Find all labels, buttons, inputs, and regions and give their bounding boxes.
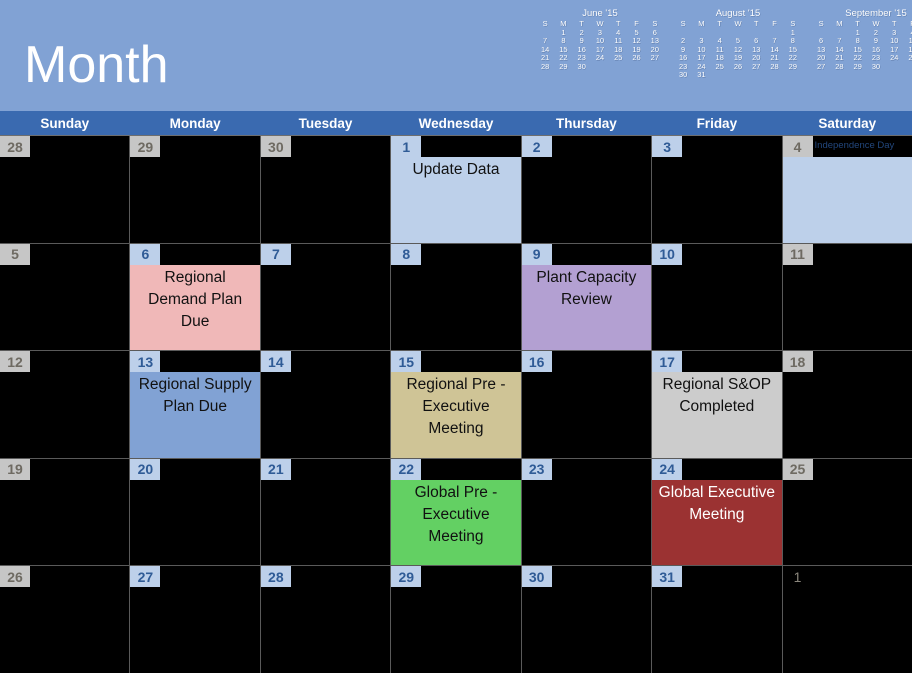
calendar-day-cell[interactable]: 31 xyxy=(652,566,782,673)
calendar-day-cell[interactable]: 22Global Pre - Executive Meeting xyxy=(391,459,521,566)
calendar-day-cell[interactable]: 13Regional Supply Plan Due xyxy=(130,351,260,458)
mini-day-empty xyxy=(765,71,783,80)
calendar-event[interactable]: Global Pre - Executive Meeting xyxy=(391,480,520,566)
day-number-badge: 26 xyxy=(0,566,30,587)
day-number-badge: 28 xyxy=(261,566,291,587)
weekday-header-wednesday: Wednesday xyxy=(391,111,521,135)
calendar-day-cell[interactable]: 5 xyxy=(0,244,130,351)
calendar-day-cell[interactable]: 24Global Executive Meeting xyxy=(652,459,782,566)
mini-calendar: June '15SMTWTFS1234567891011121314151617… xyxy=(536,8,664,80)
weekday-header-row: SundayMondayTuesdayWednesdayThursdayFrid… xyxy=(0,111,912,135)
day-number-badge: 2 xyxy=(522,136,552,157)
mini-calendar: August '15SMTWTFS12345678910111213141516… xyxy=(674,8,802,80)
mini-day-cell[interactable]: 29 xyxy=(554,63,572,72)
day-number-badge: 31 xyxy=(652,566,682,587)
mini-day-cell[interactable]: 28 xyxy=(830,63,848,72)
day-number-badge: 25 xyxy=(783,459,813,480)
weekday-header-thursday: Thursday xyxy=(522,111,652,135)
calendar-week-row: 2829301Update Data234Independence Day xyxy=(0,135,912,243)
calendar-day-cell[interactable]: 27 xyxy=(130,566,260,673)
day-number-badge: 10 xyxy=(652,244,682,265)
mini-day-empty xyxy=(885,63,903,72)
mini-day-cell[interactable]: 30 xyxy=(674,71,692,80)
day-number-badge: 29 xyxy=(391,566,421,587)
day-number-badge: 12 xyxy=(0,351,30,372)
calendar-week-row: 56Regional Demand Plan Due789Plant Capac… xyxy=(0,243,912,351)
mini-day-empty xyxy=(627,63,645,72)
mini-day-cell[interactable]: 29 xyxy=(784,63,802,72)
mini-calendar-title: June '15 xyxy=(536,8,664,19)
calendar-day-cell[interactable]: 30 xyxy=(261,136,391,243)
calendar-day-cell[interactable]: 6Regional Demand Plan Due xyxy=(130,244,260,351)
day-number-badge: 30 xyxy=(522,566,552,587)
mini-dow-label: S xyxy=(674,20,692,29)
calendar-day-cell[interactable]: 30 xyxy=(522,566,652,673)
mini-day-cell[interactable]: 27 xyxy=(812,63,830,72)
mini-dow-label: F xyxy=(765,20,783,29)
mini-dow-label: T xyxy=(747,20,765,29)
calendar-day-cell[interactable]: 29 xyxy=(130,136,260,243)
calendar-day-cell[interactable]: 19 xyxy=(0,459,130,566)
calendar-week-row: 19202122Global Pre - Executive Meeting23… xyxy=(0,458,912,566)
holiday-label: Independence Day xyxy=(815,138,895,154)
calendar-day-cell[interactable]: 29 xyxy=(391,566,521,673)
mini-day-cell[interactable]: 27 xyxy=(747,63,765,72)
mini-day-empty xyxy=(646,63,664,72)
calendar-event[interactable]: Global Executive Meeting xyxy=(652,480,781,566)
calendar-day-cell[interactable]: 16 xyxy=(522,351,652,458)
mini-dow-label: S xyxy=(536,20,554,29)
mini-day-cell[interactable]: 27 xyxy=(646,54,664,63)
calendar-day-cell[interactable]: 1Update Data xyxy=(391,136,521,243)
mini-dow-label: T xyxy=(711,20,729,29)
calendar-day-cell[interactable]: 11 xyxy=(783,244,912,351)
calendar-event[interactable]: Regional S&OP Completed xyxy=(652,372,781,458)
mini-dow-label: S xyxy=(812,20,830,29)
calendar-week-row: 2627282930311 xyxy=(0,565,912,673)
calendar-day-cell[interactable]: 28 xyxy=(261,566,391,673)
calendar-event[interactable]: Regional Demand Plan Due xyxy=(130,265,259,351)
day-number-badge: 27 xyxy=(130,566,160,587)
mini-day-cell[interactable]: 26 xyxy=(729,63,747,72)
calendar-event[interactable]: Update Data xyxy=(391,157,520,243)
mini-day-empty xyxy=(729,71,747,80)
mini-calendar: September '15SMTWTFS12345678910111213141… xyxy=(812,8,912,80)
day-number-badge: 14 xyxy=(261,351,291,372)
calendar-day-cell[interactable]: 25 xyxy=(783,459,912,566)
mini-day-cell[interactable]: 28 xyxy=(536,63,554,72)
mini-day-empty xyxy=(903,63,912,72)
day-number-badge: 20 xyxy=(130,459,160,480)
calendar-day-cell[interactable]: 1 xyxy=(783,566,912,673)
day-number-badge: 24 xyxy=(652,459,682,480)
mini-day-cell[interactable]: 30 xyxy=(573,63,591,72)
day-number-badge: 4 xyxy=(783,136,813,157)
mini-day-cell[interactable]: 24 xyxy=(591,54,609,63)
mini-day-empty xyxy=(784,71,802,80)
mini-dow-label: M xyxy=(830,20,848,29)
calendar-day-cell[interactable]: 10 xyxy=(652,244,782,351)
day-number-badge: 7 xyxy=(261,244,291,265)
mini-calendars-group: June '15SMTWTFS1234567891011121314151617… xyxy=(536,8,912,80)
day-number-badge: 21 xyxy=(261,459,291,480)
day-number-badge: 22 xyxy=(391,459,421,480)
mini-day-cell[interactable]: 29 xyxy=(849,63,867,72)
calendar-day-cell[interactable]: 28 xyxy=(0,136,130,243)
calendar-page: Month June '15SMTWTFS1234567891011121314… xyxy=(0,0,912,673)
mini-day-empty xyxy=(591,63,609,72)
weekday-header-tuesday: Tuesday xyxy=(261,111,391,135)
mini-calendar-table: SMTWTFS123456789101112131415161718192021… xyxy=(812,20,912,71)
calendar-event[interactable]: Regional Supply Plan Due xyxy=(130,372,259,458)
day-cell-wash xyxy=(783,157,912,243)
mini-day-cell[interactable]: 25 xyxy=(903,54,912,63)
day-number-badge: 15 xyxy=(391,351,421,372)
calendar-day-cell[interactable]: 3 xyxy=(652,136,782,243)
weekday-header-friday: Friday xyxy=(652,111,782,135)
mini-dow-label: W xyxy=(729,20,747,29)
page-title: Month xyxy=(24,39,169,91)
day-number-badge: 1 xyxy=(391,136,421,157)
day-number-badge: 6 xyxy=(130,244,160,265)
mini-calendar-title: September '15 xyxy=(812,8,912,19)
weekday-header-monday: Monday xyxy=(130,111,260,135)
mini-day-empty xyxy=(711,71,729,80)
mini-day-empty xyxy=(609,63,627,72)
calendar-day-cell[interactable]: 20 xyxy=(130,459,260,566)
mini-calendar-table: SMTWTFS123456789101112131415161718192021… xyxy=(536,20,664,71)
day-number-badge: 1 xyxy=(783,566,813,587)
calendar-day-cell[interactable]: 8 xyxy=(391,244,521,351)
mini-calendar-title: August '15 xyxy=(674,8,802,19)
day-number-badge: 5 xyxy=(0,244,30,265)
mini-day-cell[interactable]: 30 xyxy=(867,63,885,72)
day-number-badge: 30 xyxy=(261,136,291,157)
calendar-day-cell[interactable]: 7 xyxy=(261,244,391,351)
calendar-grid: 2829301Update Data234Independence Day56R… xyxy=(0,135,912,673)
mini-day-cell[interactable]: 25 xyxy=(711,63,729,72)
weekday-header-sunday: Sunday xyxy=(0,111,130,135)
day-number-badge: 29 xyxy=(130,136,160,157)
calendar-event[interactable]: Regional Pre - Executive Meeting xyxy=(391,372,520,458)
mini-day-cell[interactable]: 28 xyxy=(765,63,783,72)
day-number-badge: 3 xyxy=(652,136,682,157)
calendar-day-cell[interactable]: 18 xyxy=(783,351,912,458)
mini-calendar-table: SMTWTFS123456789101112131415161718192021… xyxy=(674,20,802,80)
mini-day-cell[interactable]: 26 xyxy=(627,54,645,63)
mini-day-cell[interactable]: 25 xyxy=(609,54,627,63)
day-number-badge: 17 xyxy=(652,351,682,372)
weekday-header-saturday: Saturday xyxy=(783,111,912,135)
day-number-badge: 11 xyxy=(783,244,813,265)
calendar-banner: Month June '15SMTWTFS1234567891011121314… xyxy=(0,0,912,111)
day-number-badge: 28 xyxy=(0,136,30,157)
mini-day-cell[interactable]: 24 xyxy=(885,54,903,63)
calendar-week-row: 1213Regional Supply Plan Due1415Regional… xyxy=(0,350,912,458)
day-number-badge: 18 xyxy=(783,351,813,372)
calendar-day-cell[interactable]: 17Regional S&OP Completed xyxy=(652,351,782,458)
mini-dow-label: M xyxy=(692,20,710,29)
calendar-day-cell[interactable]: 12 xyxy=(0,351,130,458)
calendar-event[interactable]: Plant Capacity Review xyxy=(522,265,651,351)
calendar-day-cell[interactable]: 14 xyxy=(261,351,391,458)
day-number-badge: 19 xyxy=(0,459,30,480)
day-number-badge: 13 xyxy=(130,351,160,372)
calendar-day-cell[interactable]: 23 xyxy=(522,459,652,566)
calendar-day-cell[interactable]: 21 xyxy=(261,459,391,566)
mini-day-cell[interactable]: 31 xyxy=(692,71,710,80)
calendar-day-cell[interactable]: 4Independence Day xyxy=(783,136,912,243)
calendar-day-cell[interactable]: 9Plant Capacity Review xyxy=(522,244,652,351)
calendar-day-cell[interactable]: 15Regional Pre - Executive Meeting xyxy=(391,351,521,458)
day-number-badge: 23 xyxy=(522,459,552,480)
day-number-badge: 8 xyxy=(391,244,421,265)
mini-day-empty xyxy=(747,71,765,80)
day-number-badge: 9 xyxy=(522,244,552,265)
calendar-day-cell[interactable]: 2 xyxy=(522,136,652,243)
day-number-badge: 16 xyxy=(522,351,552,372)
calendar-day-cell[interactable]: 26 xyxy=(0,566,130,673)
